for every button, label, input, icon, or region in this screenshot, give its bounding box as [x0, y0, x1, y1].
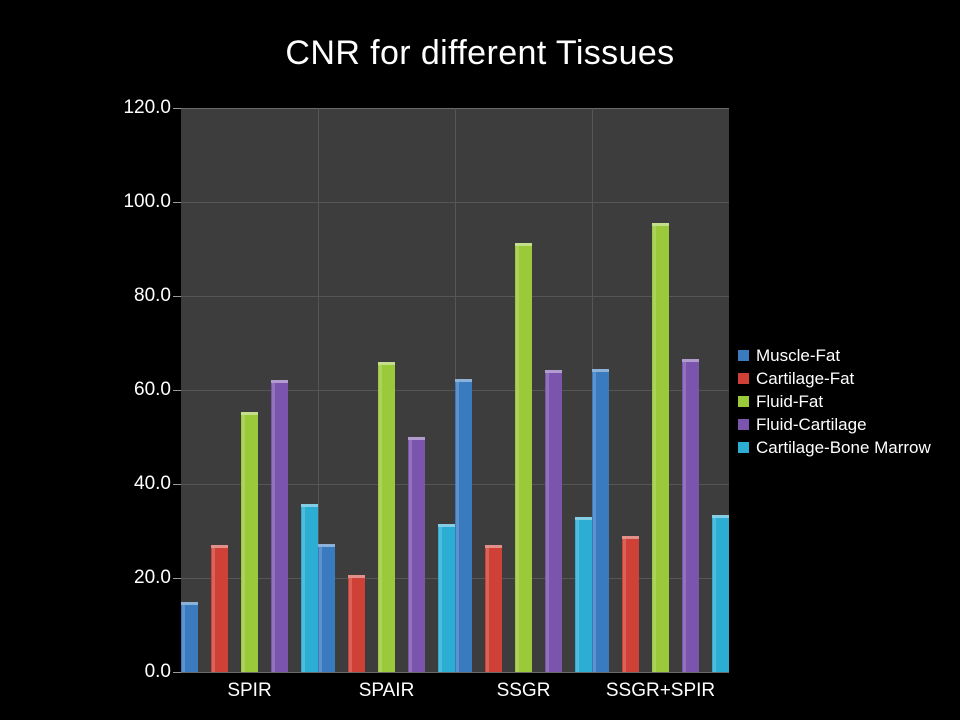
legend-label: Cartilage-Fat [756, 370, 854, 387]
y-axis: 0.020.040.060.080.0100.0120.0 [0, 108, 171, 672]
bar [652, 223, 669, 672]
bar [348, 575, 365, 672]
bar [271, 380, 288, 672]
y-axis-tick-mark [173, 108, 181, 109]
legend-swatch-icon [738, 373, 749, 384]
bar-sheen [409, 440, 412, 672]
bar-sheen [576, 520, 579, 672]
bar-sheen [349, 578, 352, 672]
y-axis-tick-label: 100.0 [0, 191, 171, 213]
bar-sheen [302, 507, 305, 672]
y-axis-tick-label: 120.0 [0, 97, 171, 119]
legend-item: Cartilage-Fat [738, 367, 954, 390]
legend-swatch-icon [738, 396, 749, 407]
bar [592, 369, 609, 672]
bar-sheen [319, 547, 322, 672]
y-axis-tick-label: 0.0 [0, 661, 171, 683]
bar [378, 362, 395, 672]
bar [485, 545, 502, 672]
bar-sheen [653, 226, 656, 672]
slide-canvas: CNR for different Tissues 0.020.040.060.… [0, 0, 960, 720]
bar-sheen [623, 539, 626, 672]
bar [408, 437, 425, 672]
bar-sheen [456, 382, 459, 672]
bar-sheen [439, 527, 442, 672]
y-axis-tick-mark [173, 296, 181, 297]
x-axis-tick-label: SSGR [497, 680, 551, 702]
bar-sheen [683, 362, 686, 672]
y-axis-tick-label: 40.0 [0, 473, 171, 495]
legend-item: Fluid-Fat [738, 390, 954, 413]
legend-label: Cartilage-Bone Marrow [756, 439, 931, 456]
y-axis-tick-mark [173, 202, 181, 203]
y-axis-tick-mark [173, 390, 181, 391]
bar-sheen [546, 373, 549, 672]
legend-label: Fluid-Cartilage [756, 416, 867, 433]
bar-sheen [593, 372, 596, 672]
x-axis-tick-label: SSGR+SPIR [606, 680, 715, 702]
y-axis-tick-mark [173, 578, 181, 579]
bar [515, 243, 532, 672]
y-axis-tick-mark [173, 484, 181, 485]
bar [241, 412, 258, 672]
page-title: CNR for different Tissues [0, 34, 960, 73]
legend-swatch-icon [738, 442, 749, 453]
legend-swatch-icon [738, 419, 749, 430]
x-axis-tick-label: SPAIR [359, 680, 415, 702]
bar-sheen [486, 548, 489, 672]
bar [211, 545, 228, 672]
bar-sheen [182, 605, 185, 672]
legend-item: Fluid-Cartilage [738, 413, 954, 436]
bar-sheen [272, 383, 275, 672]
bar [301, 504, 318, 672]
bar-sheen [516, 246, 519, 672]
gridline [181, 672, 729, 673]
bar [438, 524, 455, 672]
legend-item: Muscle-Fat [738, 344, 954, 367]
y-axis-tick-label: 80.0 [0, 285, 171, 307]
bar [545, 370, 562, 672]
x-axis: SPIRSPAIRSSGRSSGR+SPIR [181, 680, 729, 710]
bar [181, 602, 198, 672]
legend-swatch-icon [738, 350, 749, 361]
legend-label: Fluid-Fat [756, 393, 823, 410]
y-axis-tick-label: 20.0 [0, 567, 171, 589]
bar [712, 515, 729, 672]
bar [455, 379, 472, 672]
bar-sheen [242, 415, 245, 672]
bar-sheen [713, 518, 716, 672]
bar-sheen [212, 548, 215, 672]
x-axis-tick-label: SPIR [227, 680, 271, 702]
bar [318, 544, 335, 672]
bar [575, 517, 592, 672]
plot-area [181, 108, 729, 672]
bar-sheen [379, 365, 382, 672]
bar [682, 359, 699, 672]
y-axis-tick-mark [173, 672, 181, 673]
legend-item: Cartilage-Bone Marrow [738, 436, 954, 459]
y-axis-tick-label: 60.0 [0, 379, 171, 401]
legend: Muscle-FatCartilage-FatFluid-FatFluid-Ca… [738, 344, 954, 459]
bar [622, 536, 639, 672]
legend-label: Muscle-Fat [756, 347, 840, 364]
